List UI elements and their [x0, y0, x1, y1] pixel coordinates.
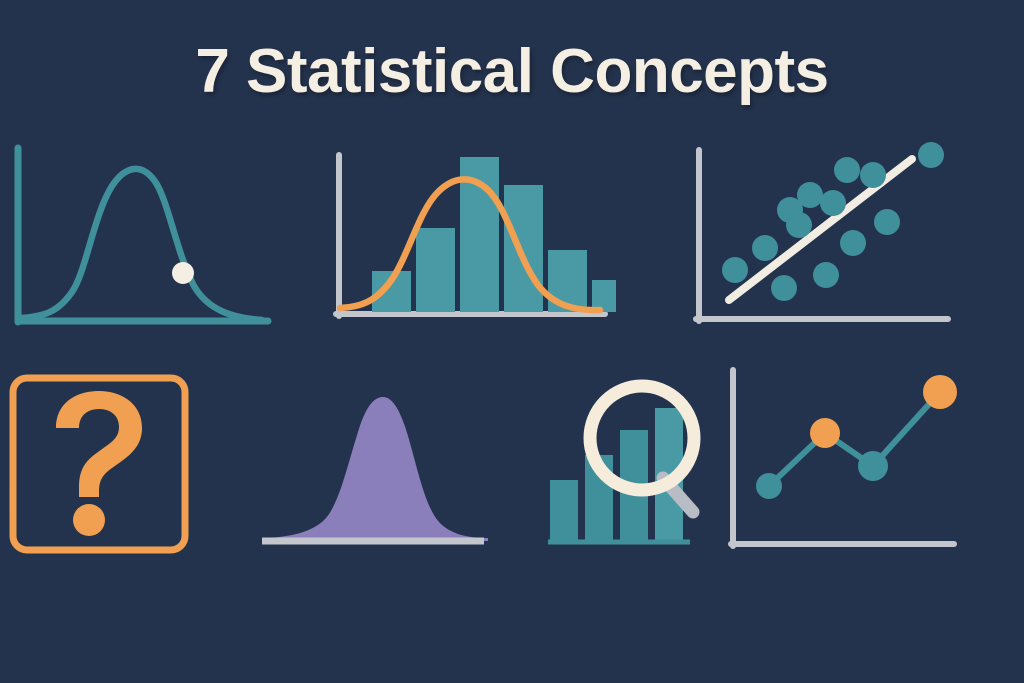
data-point [752, 235, 778, 261]
question-mark-dot-icon [73, 504, 105, 536]
data-point [771, 275, 797, 301]
page-title: 7 Statistical Concepts [0, 36, 1024, 107]
highlighted-point-marker [172, 262, 194, 284]
histogram-bars [372, 157, 616, 312]
data-point [918, 142, 944, 168]
data-point [860, 162, 886, 188]
data-point [840, 230, 866, 256]
panel-trend-line [720, 360, 980, 560]
normal-curve-figure [0, 140, 275, 335]
scatter-figure [680, 135, 970, 335]
trend-line-figure [720, 360, 980, 560]
data-marker [923, 375, 957, 409]
histogram-figure [320, 140, 615, 335]
data-marker [756, 473, 782, 499]
density-figure [250, 370, 505, 555]
bell-curve-line [22, 169, 262, 320]
bar [550, 480, 578, 542]
question-mark-hook-icon [56, 391, 142, 497]
data-point [834, 157, 860, 183]
data-marker [858, 451, 888, 481]
data-point [813, 262, 839, 288]
data-point [777, 197, 803, 223]
data-marker [810, 418, 840, 448]
trend-line [769, 392, 940, 486]
poster-canvas: 7 Statistical Concepts [0, 0, 1024, 683]
hypothesis-figure [0, 370, 200, 560]
panel-histogram [320, 140, 615, 335]
panel-density [250, 370, 505, 555]
panel-normal-curve [0, 140, 275, 335]
data-point [874, 209, 900, 235]
bar [416, 228, 455, 312]
panel-bar-magnifier [530, 370, 715, 555]
data-point [820, 190, 846, 216]
panel-hypothesis [0, 370, 200, 560]
density-area [264, 397, 488, 541]
data-point [722, 257, 748, 283]
panel-scatter [680, 135, 970, 335]
bar [504, 185, 543, 312]
bar-magnifier-figure [530, 370, 715, 555]
